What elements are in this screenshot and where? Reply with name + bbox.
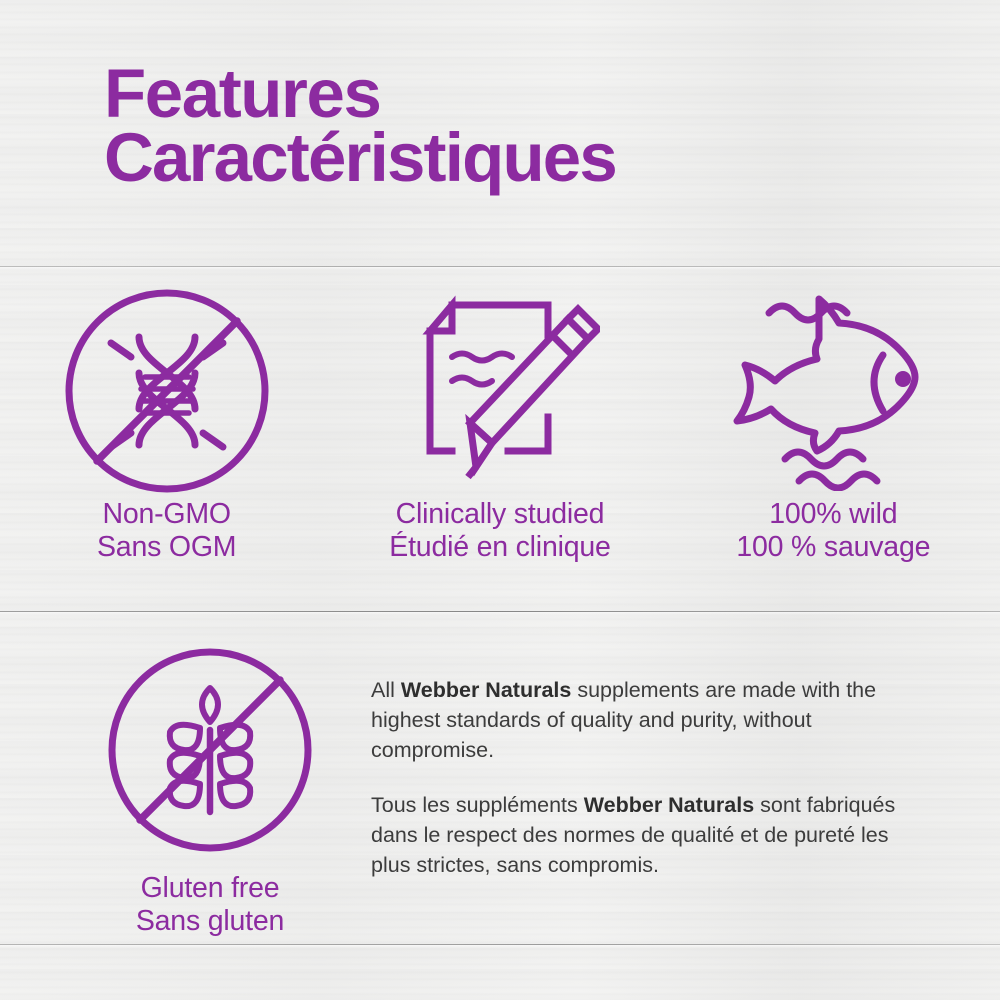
feature-label-non-gmo-en: Non-GMO bbox=[97, 498, 236, 531]
plank-seam-middle bbox=[0, 611, 1000, 615]
clipboard-pen-icon bbox=[400, 283, 600, 498]
feature-label-wild-fr: 100 % sauvage bbox=[736, 531, 930, 564]
feature-row: Non-GMO Sans OGM bbox=[0, 283, 1000, 583]
feature-label-gluten-free-en: Gluten free bbox=[96, 872, 324, 905]
fish-waves-icon bbox=[727, 283, 939, 498]
no-gluten-wheat-icon bbox=[96, 644, 324, 856]
brand-copy-fr: Tous les suppléments Webber Naturals son… bbox=[371, 790, 927, 880]
feature-label-wild-en: 100% wild bbox=[736, 498, 930, 531]
feature-label-gluten-free: Gluten free Sans gluten bbox=[96, 872, 324, 939]
feature-label-clinically-studied-en: Clinically studied bbox=[389, 498, 610, 531]
copy-en-brand: Webber Naturals bbox=[401, 678, 571, 702]
feature-wild: 100% wild 100 % sauvage bbox=[667, 283, 1000, 583]
feature-label-gluten-free-fr: Sans gluten bbox=[96, 905, 324, 938]
page-title-en: Features bbox=[104, 62, 924, 126]
feature-non-gmo: Non-GMO Sans OGM bbox=[0, 283, 333, 583]
copy-fr-before: Tous les suppléments bbox=[371, 793, 584, 817]
plank-seam-bottom bbox=[0, 944, 1000, 948]
feature-clinically-studied: Clinically studied Étudié en clinique bbox=[333, 283, 666, 583]
brand-copy-en: All Webber Naturals supplements are made… bbox=[371, 675, 927, 765]
feature-label-clinically-studied: Clinically studied Étudié en clinique bbox=[389, 498, 610, 565]
brand-copy: All Webber Naturals supplements are made… bbox=[371, 675, 927, 906]
bottom-section: Gluten free Sans gluten All Webber Natur… bbox=[0, 630, 1000, 940]
feature-gluten-free: Gluten free Sans gluten bbox=[96, 644, 324, 939]
feature-label-clinically-studied-fr: Étudié en clinique bbox=[389, 531, 610, 564]
feature-label-non-gmo: Non-GMO Sans OGM bbox=[97, 498, 236, 565]
page-title-fr: Caractéristiques bbox=[104, 126, 924, 190]
plank-seam-top bbox=[0, 266, 1000, 270]
feature-label-wild: 100% wild 100 % sauvage bbox=[736, 498, 930, 565]
copy-fr-brand: Webber Naturals bbox=[584, 793, 754, 817]
page-title: Features Caractéristiques bbox=[104, 62, 924, 190]
no-gmo-dna-icon bbox=[61, 283, 273, 498]
feature-label-non-gmo-fr: Sans OGM bbox=[97, 531, 236, 564]
infographic-panel: Features Caractéristiques bbox=[0, 0, 1000, 1000]
copy-en-before: All bbox=[371, 678, 401, 702]
